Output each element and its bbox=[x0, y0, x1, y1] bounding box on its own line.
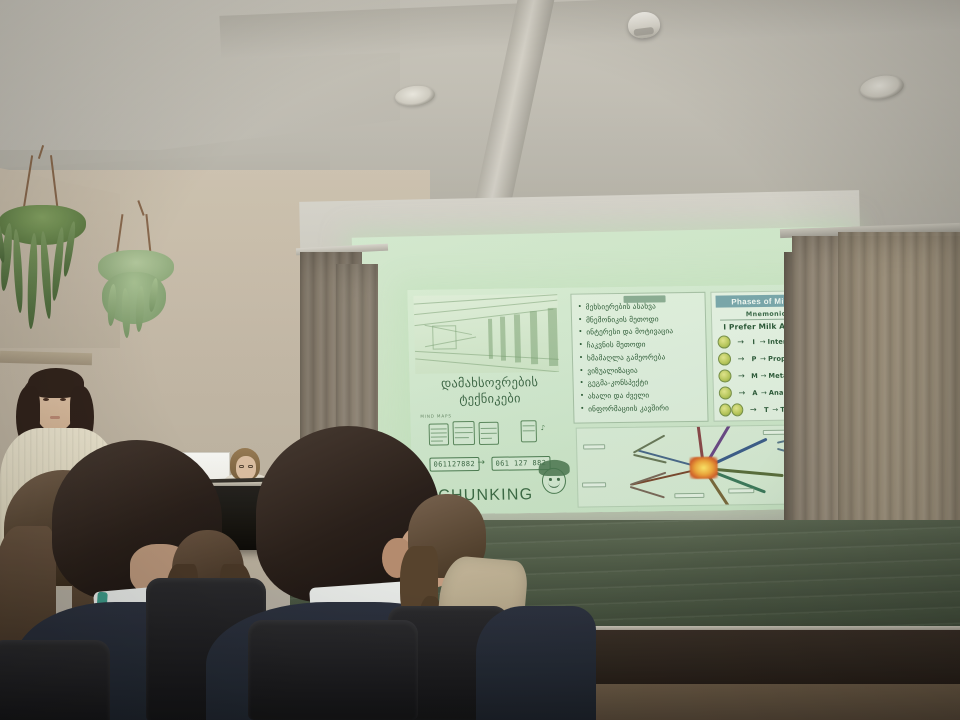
mnemonic-letter: T bbox=[762, 405, 770, 413]
arrow-icon: → bbox=[733, 337, 749, 346]
wall-trim bbox=[0, 351, 92, 365]
maps-to-icon: → bbox=[758, 354, 768, 362]
bullet-item: ინტერესი და მოტივაცია bbox=[586, 325, 700, 338]
arrow-icon: → bbox=[745, 405, 761, 414]
cell-metaphase-icon bbox=[718, 369, 731, 382]
bullet-item: გეგმა-კონსპექტი bbox=[587, 376, 701, 389]
cell-telophase-icon bbox=[719, 403, 743, 416]
arrow-icon: → bbox=[733, 371, 749, 380]
photo-scene: დამახსოვრების ტექნიკები MIND MAPS bbox=[0, 0, 960, 720]
slide-bullet-panel: მეხსიერების ასახვა მნემონიკის მეთოდი ინტ… bbox=[570, 292, 708, 424]
face-doodle-icon bbox=[537, 458, 572, 498]
arrow-icon: → bbox=[734, 388, 750, 397]
bullet-item: მეხსიერების ასახვა bbox=[586, 300, 700, 313]
cell-interphase-icon bbox=[717, 335, 730, 348]
slide-subnote: MIND MAPS bbox=[420, 413, 452, 418]
mnemonic-letter: M bbox=[750, 372, 758, 380]
mind-map-center-icon bbox=[689, 457, 718, 479]
mnemonic-letter: I bbox=[750, 338, 758, 346]
cell-prophase-icon bbox=[718, 352, 731, 365]
mnemonic-letter: A bbox=[751, 389, 759, 397]
chair-back bbox=[0, 640, 110, 720]
memory-palace-corridor-photo bbox=[413, 294, 559, 374]
bullet-item: ვიზუალიზაცია bbox=[587, 363, 701, 376]
chair-back bbox=[248, 620, 418, 720]
maps-to-icon: → bbox=[770, 405, 780, 413]
cell-anaphase-icon bbox=[719, 386, 732, 399]
bullet-item: ახალი და ძველი bbox=[588, 389, 702, 402]
slide-title: დამახსოვრების ტექნიკები bbox=[413, 374, 566, 407]
maps-to-icon: → bbox=[758, 371, 768, 379]
arrow-icon: → bbox=[733, 354, 749, 363]
chunk-arrow-icon: → bbox=[477, 458, 485, 468]
bullet-item: მნემონიკის მეთოდი bbox=[586, 313, 700, 326]
bullet-list: მეხსიერების ასახვა მნემონიკის მეთოდი ინტ… bbox=[571, 293, 707, 415]
bullet-item: ხმამაღლა გამეორება bbox=[587, 351, 701, 364]
bullet-item: ჩაკვნის მეთოდი bbox=[587, 338, 701, 351]
audience-member bbox=[476, 606, 596, 720]
mnemonic-letter: P bbox=[750, 355, 758, 363]
maps-to-icon: → bbox=[759, 388, 769, 396]
maps-to-icon: → bbox=[758, 337, 768, 345]
bullet-item: ინფორმაციის კავშირი bbox=[588, 401, 702, 414]
